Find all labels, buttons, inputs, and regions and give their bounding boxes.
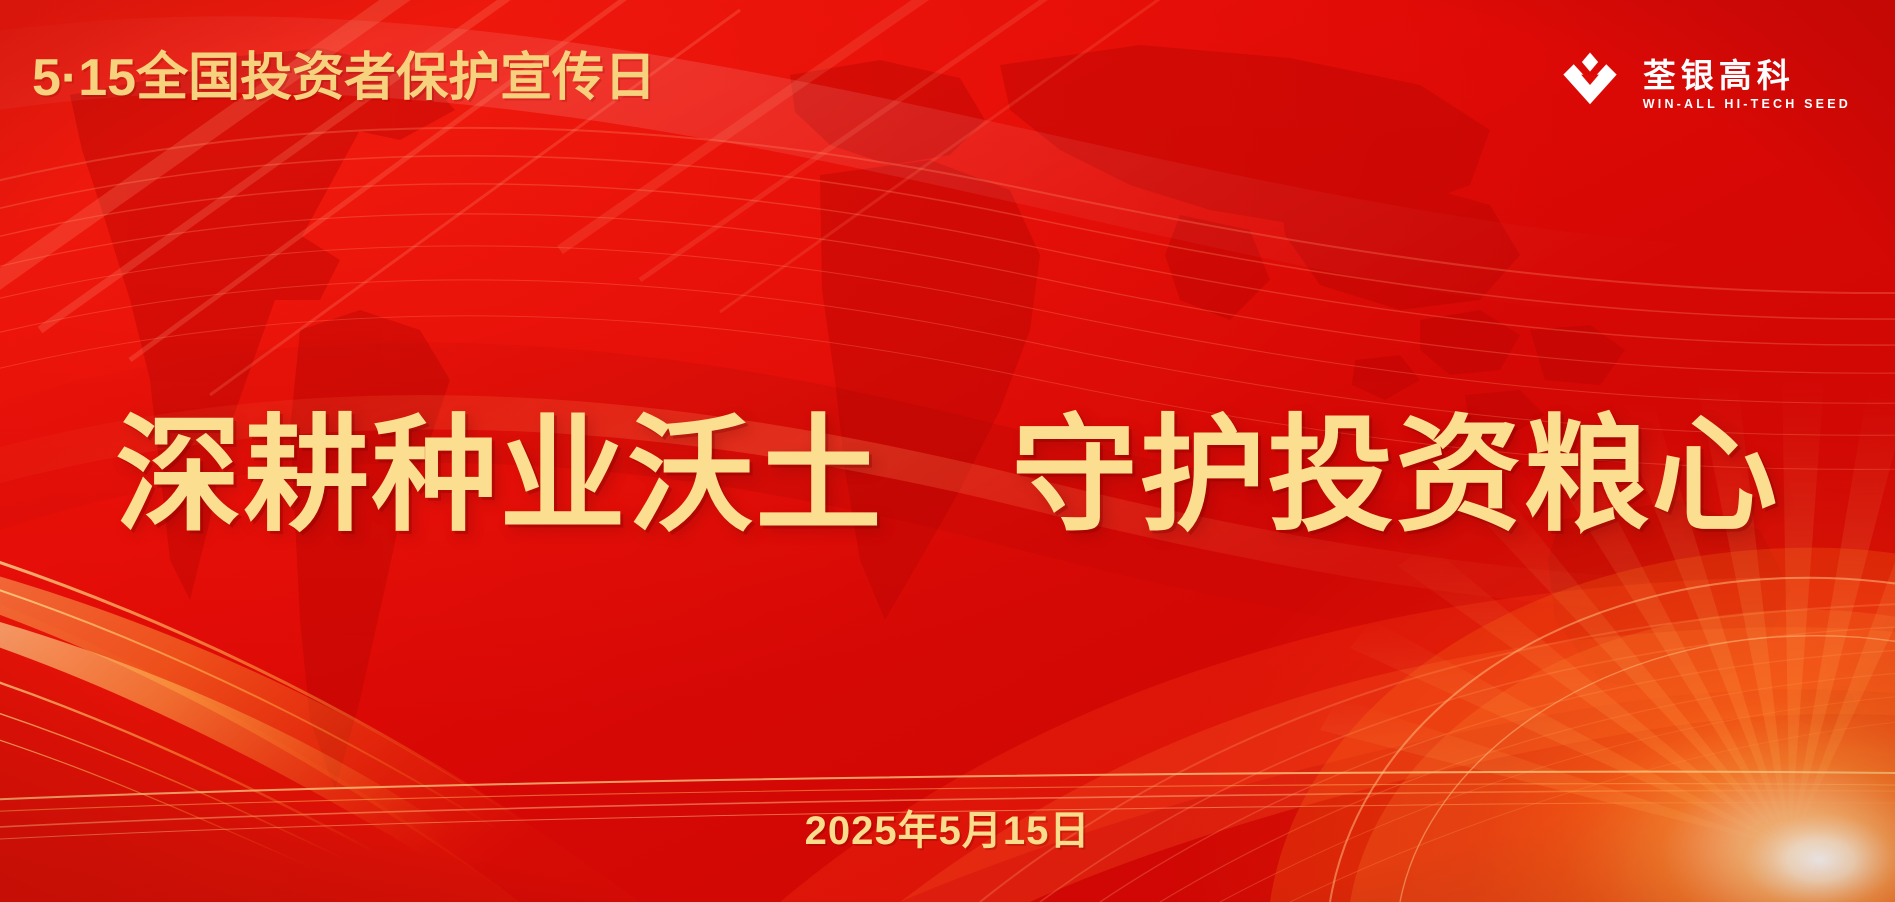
logo-name-cn: 荃银高科 — [1643, 58, 1795, 94]
logo-name-en: WIN-ALL HI-TECH SEED — [1643, 97, 1851, 112]
company-logo[interactable]: 荃银高科 WIN-ALL HI-TECH SEED — [1553, 48, 1851, 122]
main-title: 深耕种业沃土 守护投资粮心 — [0, 405, 1895, 546]
logo-wordmark: 荃银高科 WIN-ALL HI-TECH SEED — [1643, 58, 1851, 113]
banner-poster: 5·15全国投资者保护宣传日 荃银高科 WIN-ALL HI-TECH SEED… — [0, 0, 1895, 902]
event-headline: 5·15全国投资者保护宣传日 — [32, 52, 656, 104]
double-chevron-diamond-icon — [1553, 48, 1627, 122]
event-date-text: 2025年5月15日 — [805, 798, 1091, 856]
event-date: 2025年5月15日 — [0, 798, 1895, 856]
main-title-text: 深耕种业沃土 守护投资粮心 — [116, 405, 1780, 546]
